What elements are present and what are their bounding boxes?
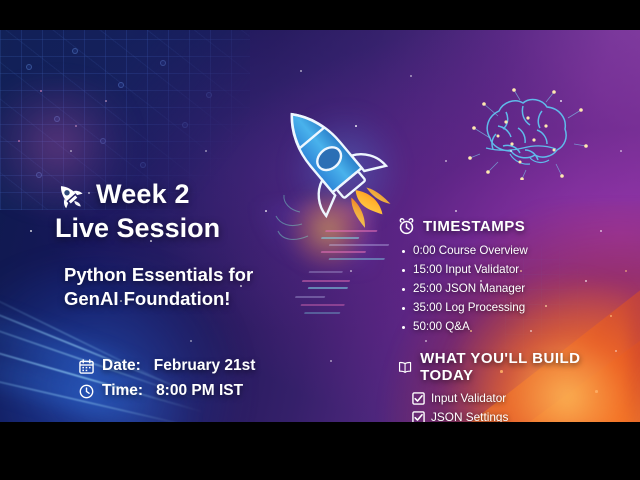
timestamps-list: 0:00 Course Overview 15:00 Input Validat… <box>402 242 613 336</box>
alarm-clock-icon <box>398 218 415 235</box>
bullet-icon <box>402 269 405 272</box>
video-frame-stage: Week 2 Live Session Python Essentials fo… <box>0 0 640 480</box>
list-item: 25:00 JSON Manager <box>402 280 613 299</box>
timestamps-heading: TIMESTAMPS <box>423 218 525 235</box>
calendar-icon <box>79 359 94 374</box>
time-label: Time: <box>102 382 143 400</box>
letterbox-top <box>0 0 640 30</box>
subtitle-line-2: GenAI Foundation! <box>64 287 355 311</box>
timestamp-label: 0:00 Course Overview <box>413 242 528 261</box>
list-item: 15:00 Input Validator <box>402 261 613 280</box>
build-heading-row: WHAT YOU'LL BUILD TODAY <box>398 350 613 384</box>
time-row: Time: 8:00 PM IST <box>79 382 355 400</box>
video-content-area: Week 2 Live Session Python Essentials fo… <box>0 30 640 422</box>
title-row: Week 2 <box>55 180 355 209</box>
left-text-block: Week 2 Live Session Python Essentials fo… <box>55 180 355 407</box>
date-label: Date: <box>102 357 141 375</box>
bullet-icon <box>402 326 405 329</box>
build-item-label: JSON Settings <box>431 408 508 422</box>
timestamp-label: 25:00 JSON Manager <box>413 280 525 299</box>
build-list: Input Validator JSON Settings Log Pipeli… <box>412 389 613 422</box>
bullet-icon <box>402 307 405 310</box>
session-meta: Date: February 21st Time: 8:00 PM IST <box>79 357 355 400</box>
checked-checkbox-icon <box>412 392 425 405</box>
timestamp-label: 35:00 Log Processing <box>413 299 525 318</box>
date-value: February 21st <box>154 357 256 375</box>
timestamps-heading-row: TIMESTAMPS <box>398 218 613 235</box>
subtitle: Python Essentials for GenAI Foundation! <box>64 263 355 311</box>
list-item: 50:00 Q&A <box>402 318 613 337</box>
date-row: Date: February 21st <box>79 357 355 375</box>
list-item: JSON Settings <box>412 408 613 422</box>
checked-checkbox-icon <box>412 411 425 422</box>
build-item-label: Input Validator <box>431 389 506 407</box>
title-line-2: Live Session <box>55 213 355 243</box>
time-value: 8:00 PM IST <box>156 382 243 400</box>
open-book-icon <box>398 360 412 375</box>
timestamp-label: 15:00 Input Validator <box>413 261 519 280</box>
right-text-block: TIMESTAMPS 0:00 Course Overview 15:00 In… <box>398 218 613 422</box>
list-item: 0:00 Course Overview <box>402 242 613 261</box>
list-item: 35:00 Log Processing <box>402 299 613 318</box>
bullet-icon <box>402 288 405 291</box>
bullet-icon <box>402 250 405 253</box>
build-heading: WHAT YOU'LL BUILD TODAY <box>420 350 613 384</box>
timestamp-label: 50:00 Q&A <box>413 318 470 337</box>
title-line-1: Week 2 <box>96 180 190 209</box>
list-item: Input Validator <box>412 389 613 407</box>
clock-icon <box>79 384 94 399</box>
subtitle-line-1: Python Essentials for <box>64 263 355 287</box>
letterbox-bottom <box>0 422 640 480</box>
rocket-icon <box>55 181 83 209</box>
